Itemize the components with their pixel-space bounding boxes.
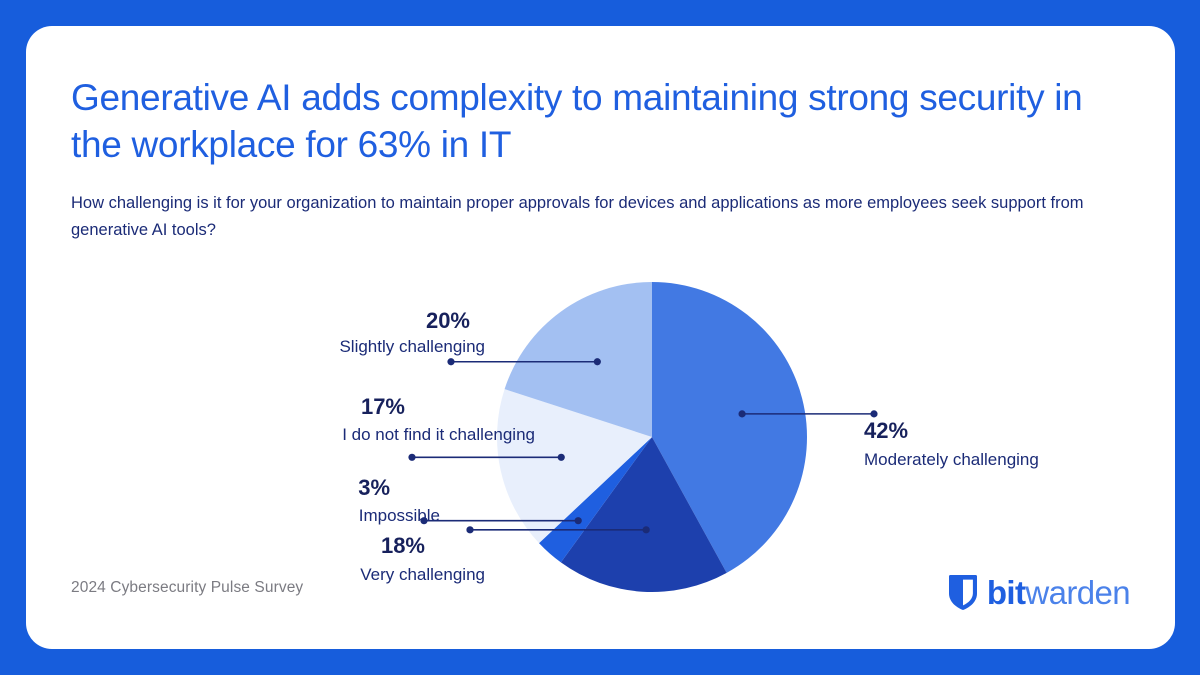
slice-label-value-not-challenging: 17% <box>361 396 405 418</box>
slice-label-value-slightly-challenging: 20% <box>426 310 470 332</box>
leader-dot <box>447 358 454 365</box>
logo-wordmark: bitwarden <box>987 576 1130 609</box>
leader-dot <box>408 454 415 461</box>
leader-dot <box>466 526 473 533</box>
slice-label-name-not-challenging: I do not find it challenging <box>342 426 535 443</box>
leader-dot <box>558 454 565 461</box>
content-card: Generative AI adds complexity to maintai… <box>26 26 1175 649</box>
slice-label-value-impossible: 3% <box>358 477 390 499</box>
logo-warden-text: warden <box>1025 574 1130 611</box>
leader-dot <box>643 526 650 533</box>
leader-dot <box>594 358 601 365</box>
slice-label-value-moderately-challenging: 42% <box>864 420 908 442</box>
slice-label-name-very-challenging: Very challenging <box>360 566 485 583</box>
shield-icon <box>948 574 978 611</box>
slice-label-name-slightly-challenging: Slightly challenging <box>339 338 485 355</box>
pie-chart-svg <box>26 26 1175 649</box>
slice-label-value-very-challenging: 18% <box>381 535 425 557</box>
leader-dot <box>738 410 745 417</box>
logo-bit-text: bit <box>987 574 1026 611</box>
leader-dot <box>870 410 877 417</box>
slice-label-name-moderately-challenging: Moderately challenging <box>864 451 1039 468</box>
footer-source-note: 2024 Cybersecurity Pulse Survey <box>71 579 303 597</box>
pie-chart: 42% Moderately challenging 18% Very chal… <box>26 26 1175 649</box>
slice-label-name-impossible: Impossible <box>359 507 440 524</box>
bitwarden-logo: bitwarden <box>948 574 1130 611</box>
slide-background: Generative AI adds complexity to maintai… <box>0 0 1200 675</box>
leader-dot <box>575 517 582 524</box>
pie-slice-group <box>497 282 807 592</box>
